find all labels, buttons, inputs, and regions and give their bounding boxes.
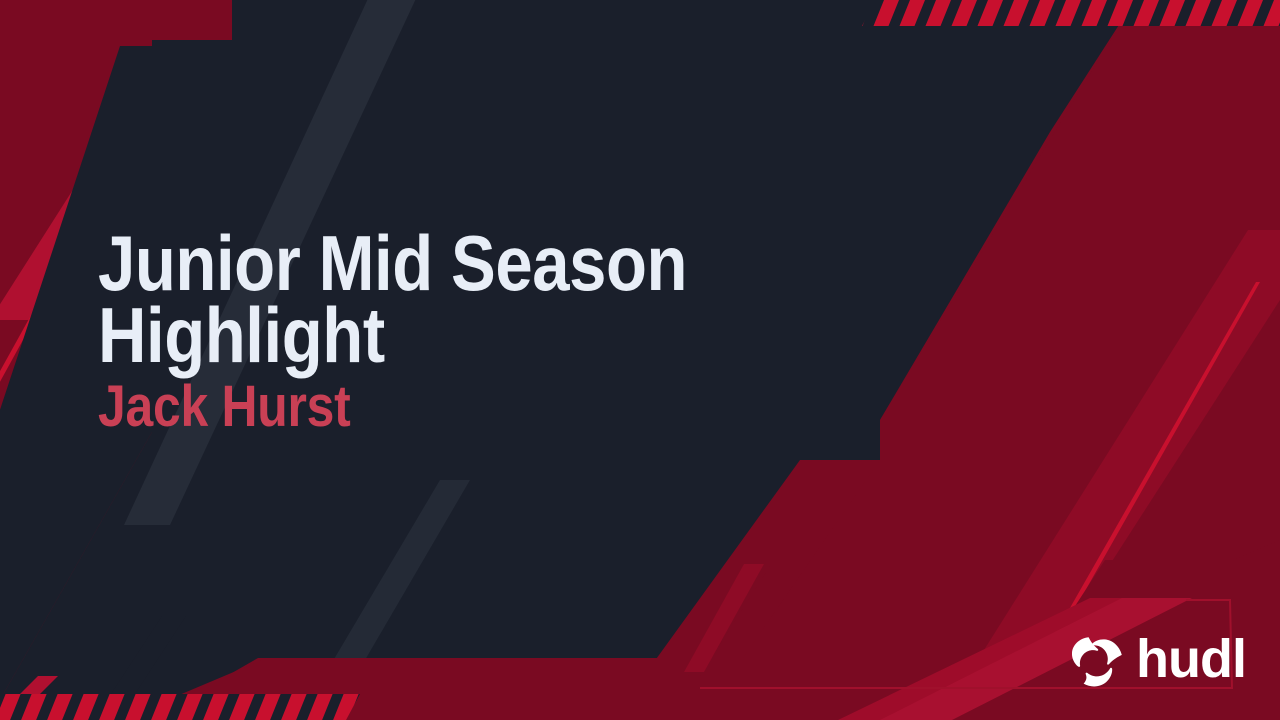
hudl-wordmark: hudl xyxy=(1136,632,1246,686)
athlete-name: Jack Hurst xyxy=(98,378,700,436)
top-hatch-stripes xyxy=(862,0,1280,26)
title-line-1: Junior Mid Season xyxy=(98,228,700,300)
title-block: Junior Mid Season Highlight Jack Hurst xyxy=(98,228,798,436)
topleft-notch-cut xyxy=(152,0,232,40)
bottom-hatch-stripes xyxy=(0,694,360,720)
hudl-logo: hudl xyxy=(1070,634,1246,688)
hudl-orb-icon xyxy=(1070,635,1126,687)
highlight-title-card: Junior Mid Season Highlight Jack Hurst h… xyxy=(0,0,1280,720)
title-line-2: Highlight xyxy=(98,300,700,372)
